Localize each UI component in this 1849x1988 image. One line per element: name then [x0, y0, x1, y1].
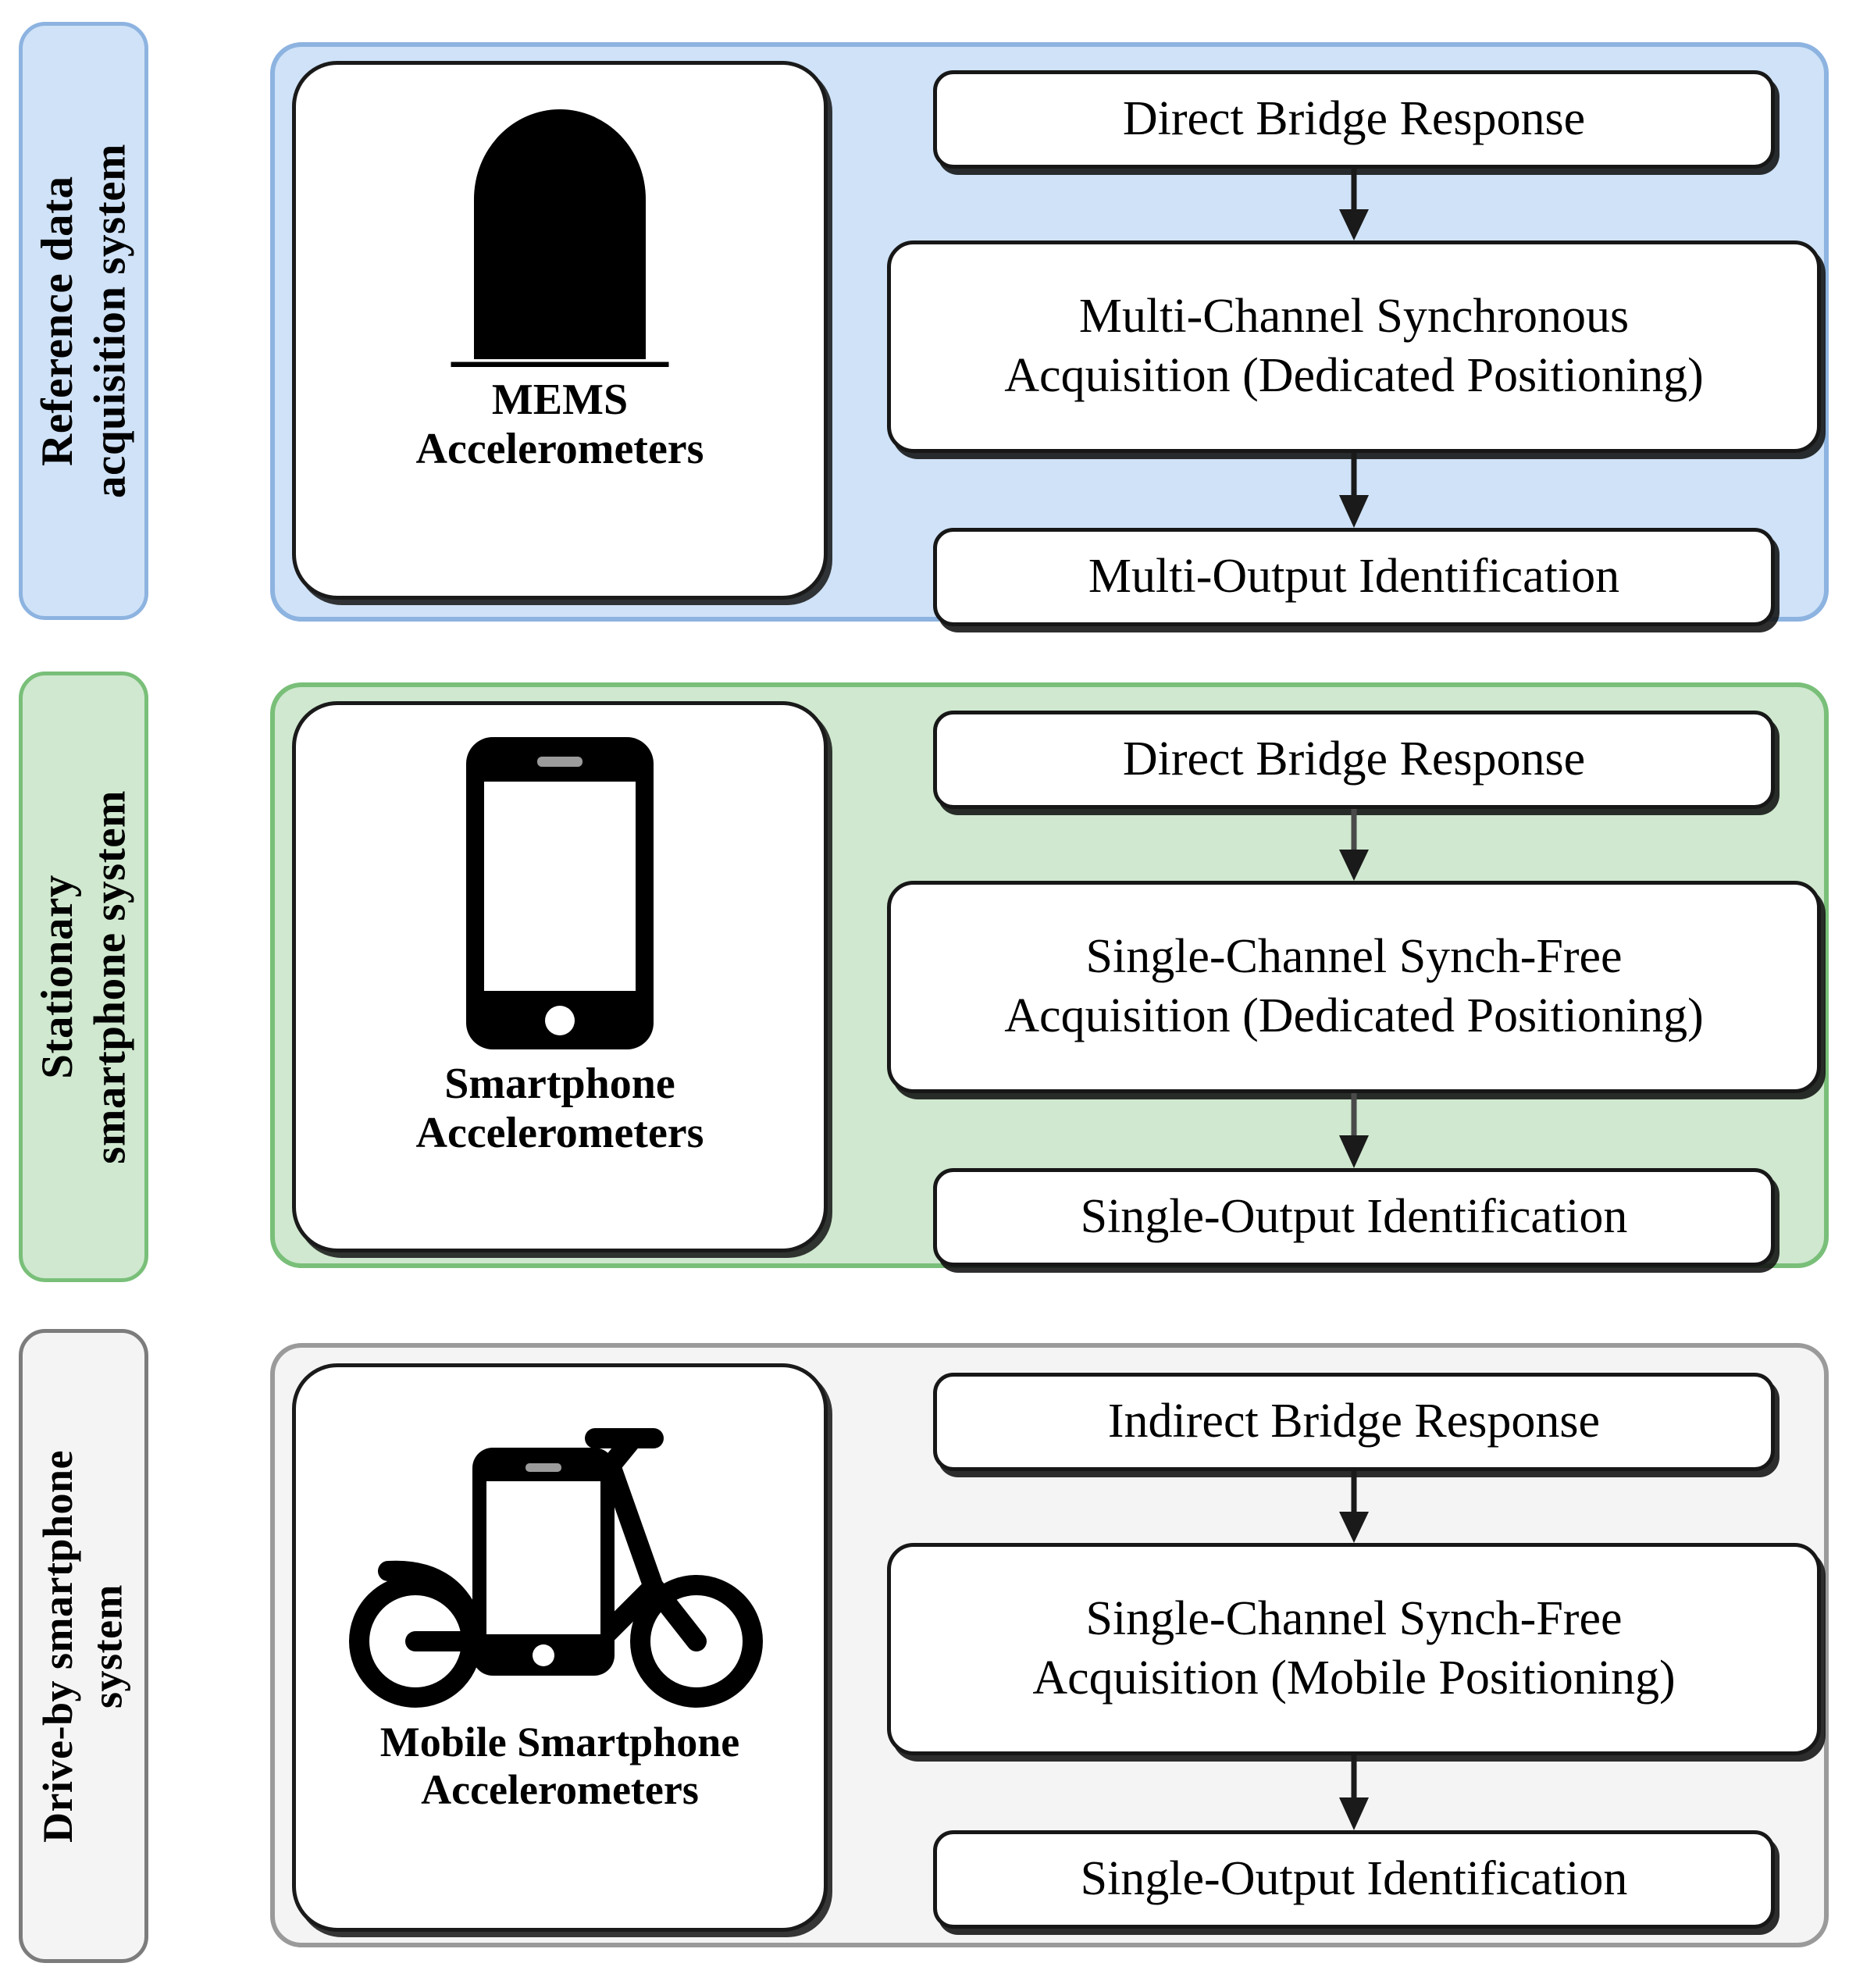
flow-step-3-row-2[interactable]: Single-Output Identification — [933, 1168, 1775, 1267]
icon-caption-row-3: Mobile Smartphone Accelerometers — [369, 1719, 751, 1814]
flow-step-3-row-3[interactable]: Single-Output Identification — [933, 1830, 1775, 1929]
mems-sensor-icon — [431, 91, 689, 369]
flow-column-row-3: Indirect Bridge Response Single-Channel … — [887, 1373, 1821, 1929]
row-drive-by-smartphone-system: Drive-by smartphone system — [0, 1329, 1849, 1969]
row-reference-data-acquisition-system: Reference data acquisition system MEMS A… — [0, 22, 1849, 647]
side-panel-row-1: Reference data acquisition system — [19, 22, 148, 620]
side-panel-label-row-2: Stationary smartphone system — [31, 790, 137, 1164]
icon-caption-row-1: MEMS Accelerometers — [405, 376, 715, 475]
side-panel-label-row-3: Drive-by smartphone system — [34, 1450, 133, 1843]
arrow-1-row-3 — [933, 1471, 1775, 1543]
icon-card-row-1[interactable]: MEMS Accelerometers — [292, 61, 828, 600]
flow-column-row-1: Direct Bridge Response Multi-Channel Syn… — [887, 70, 1821, 626]
arrow-2-row-2 — [933, 1093, 1775, 1168]
scooter-with-smartphone-icon — [341, 1391, 778, 1712]
flow-step-1-row-2[interactable]: Direct Bridge Response — [933, 711, 1775, 809]
flow-step-2-row-3[interactable]: Single-Channel Synch-Free Acquisition (M… — [887, 1543, 1821, 1755]
side-panel-label-row-1: Reference data acquisition system — [31, 144, 137, 498]
flow-step-2-row-2[interactable]: Single-Channel Synch-Free Acquisition (D… — [887, 881, 1821, 1093]
row-stationary-smartphone-system: Stationary smartphone system Smartphone … — [0, 672, 1849, 1304]
arrow-1-row-2 — [933, 809, 1775, 881]
flow-step-1-row-1[interactable]: Direct Bridge Response — [933, 70, 1775, 169]
arrow-1-row-1 — [933, 169, 1775, 240]
icon-card-row-3[interactable]: Mobile Smartphone Accelerometers — [292, 1363, 828, 1932]
icon-card-row-2[interactable]: Smartphone Accelerometers — [292, 701, 828, 1252]
flow-step-3-row-1[interactable]: Multi-Output Identification — [933, 528, 1775, 626]
side-panel-row-2: Stationary smartphone system — [19, 672, 148, 1282]
flow-step-1-row-3[interactable]: Indirect Bridge Response — [933, 1373, 1775, 1471]
flow-column-row-2: Direct Bridge Response Single-Channel Sy… — [887, 711, 1821, 1267]
smartphone-icon — [462, 733, 657, 1053]
arrow-2-row-1 — [933, 453, 1775, 528]
icon-caption-row-2: Smartphone Accelerometers — [405, 1060, 715, 1159]
flow-step-2-row-1[interactable]: Multi-Channel Synchronous Acquisition (D… — [887, 240, 1821, 453]
side-panel-row-3: Drive-by smartphone system — [19, 1329, 148, 1963]
arrow-2-row-3 — [933, 1755, 1775, 1830]
system-comparison-diagram: Reference data acquisition system MEMS A… — [0, 0, 1849, 1988]
